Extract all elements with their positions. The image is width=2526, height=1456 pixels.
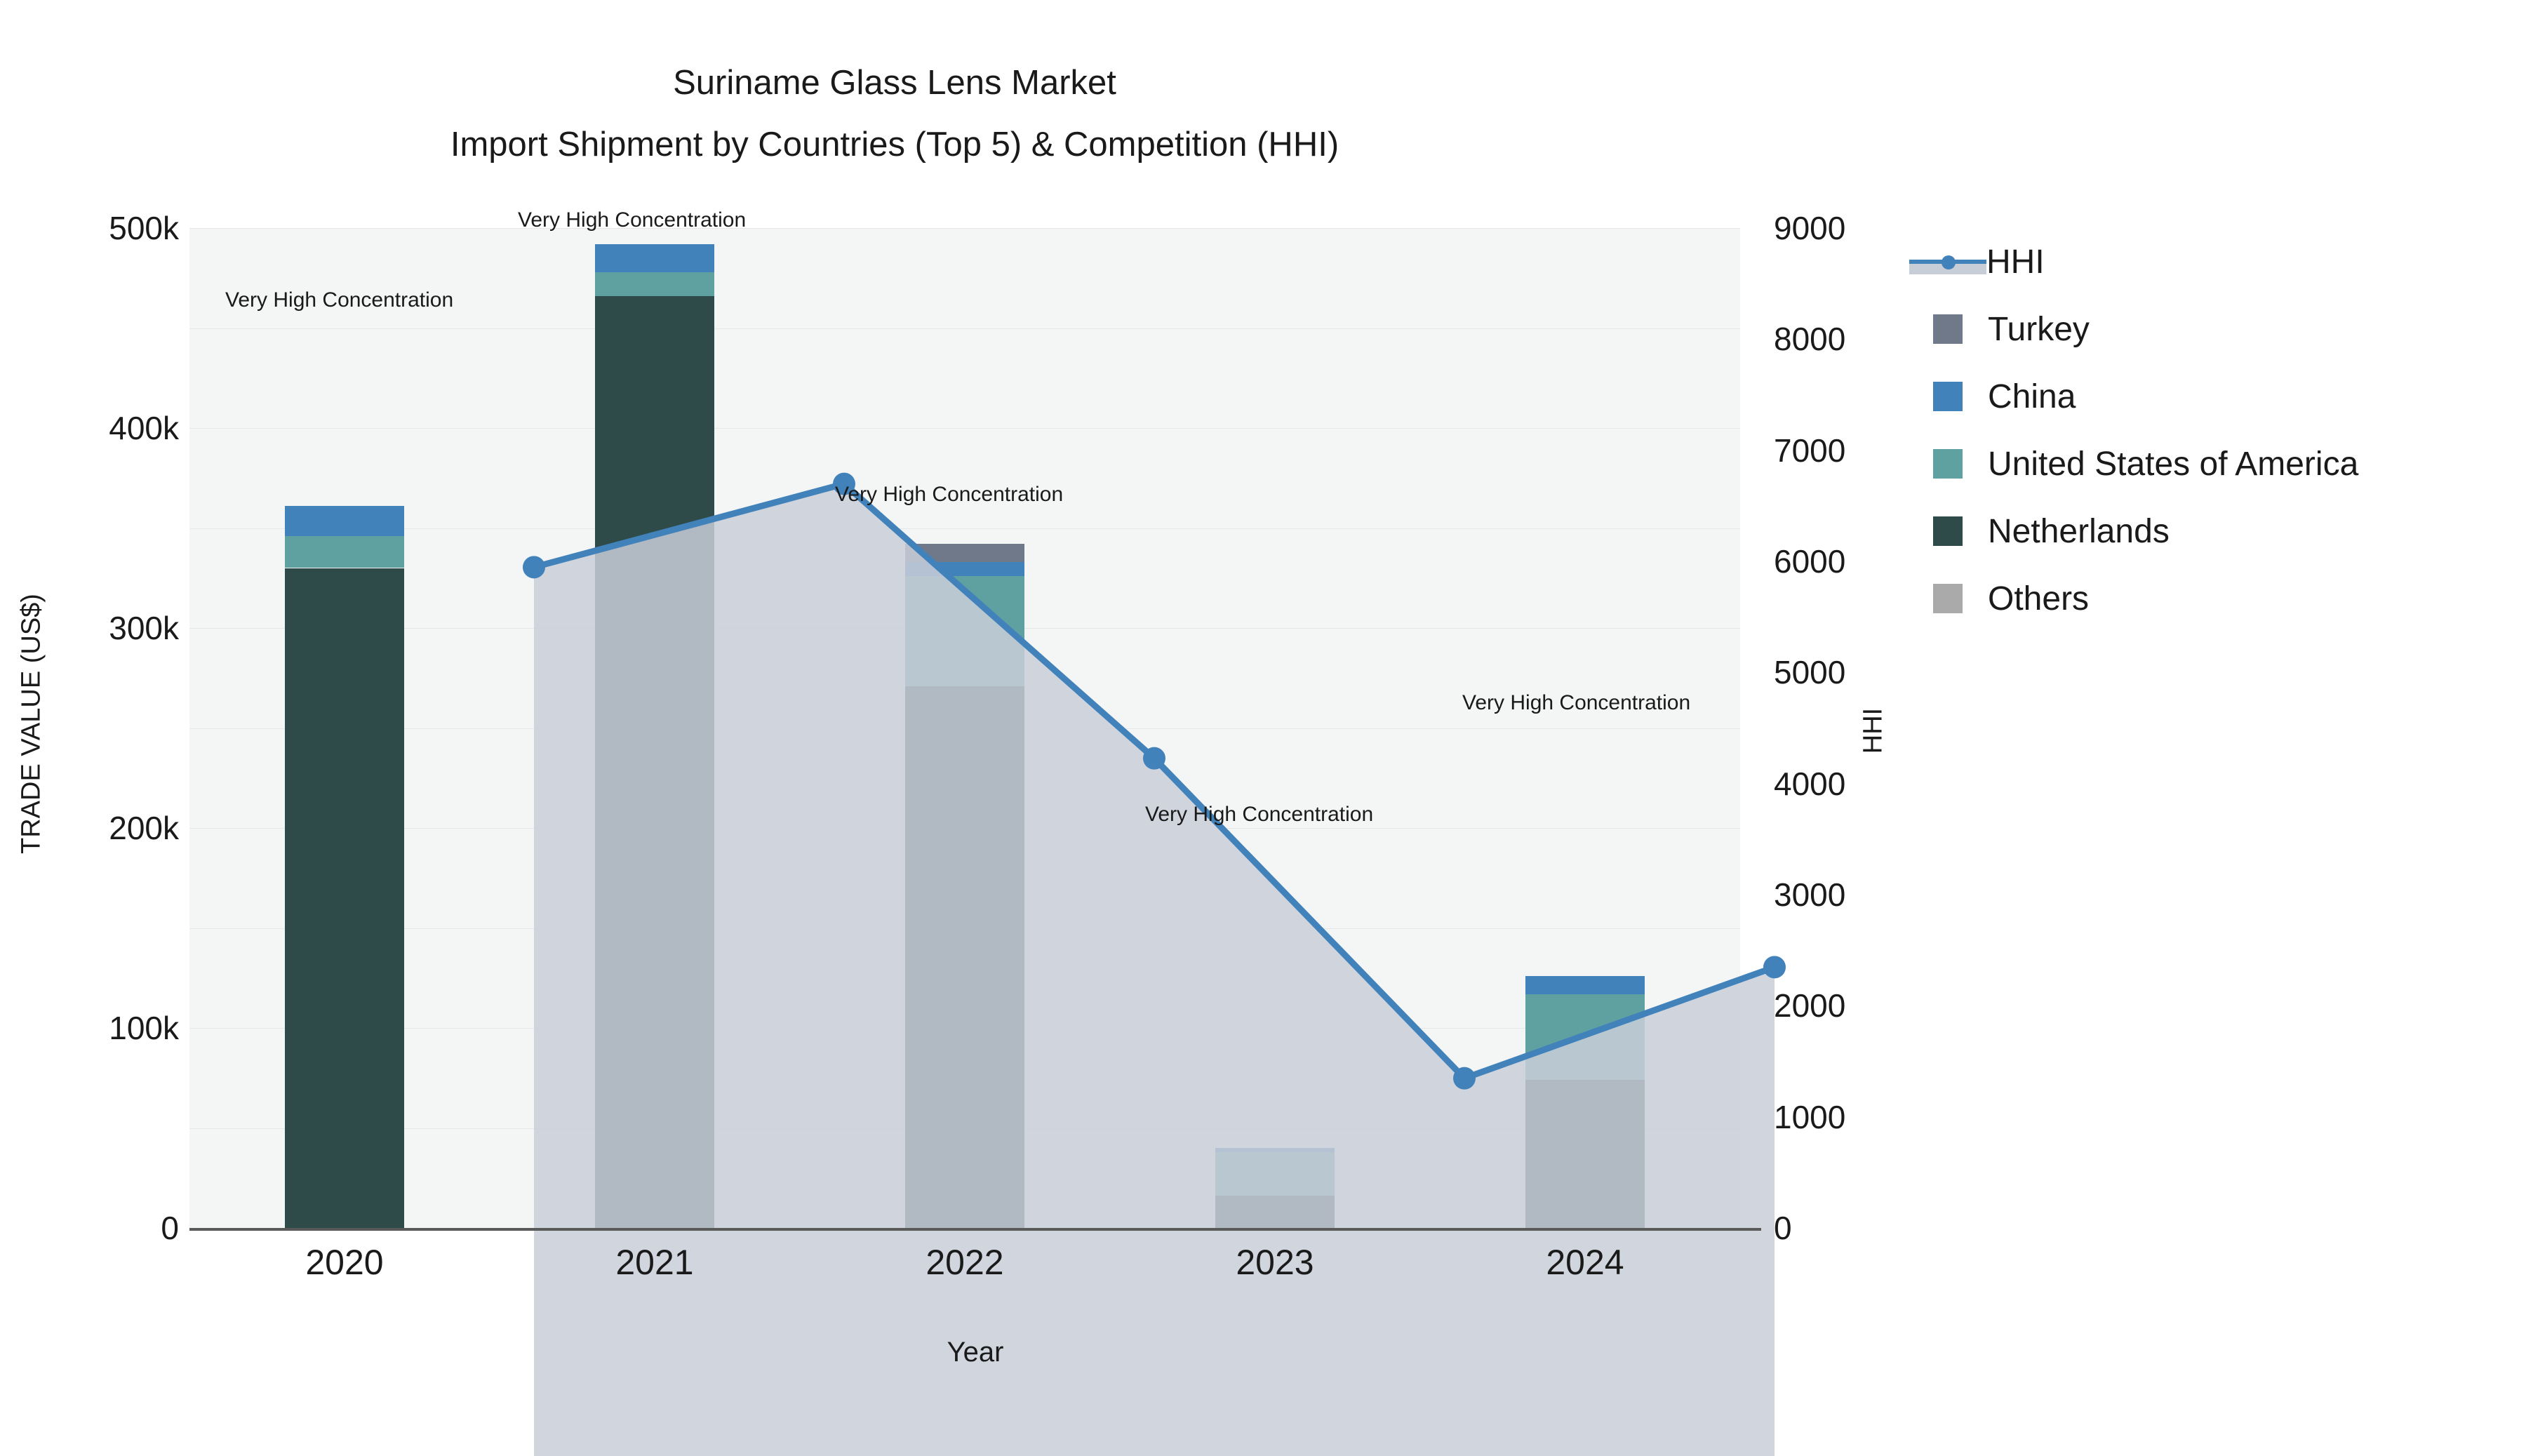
- legend-color-swatch: [1933, 449, 1963, 479]
- legend-item-netherlands[interactable]: Netherlands: [1933, 497, 2515, 565]
- x-axis-line: [189, 1228, 1761, 1231]
- plot-area: [189, 228, 1740, 1228]
- y-tick-left: 100k: [4, 1009, 179, 1047]
- legend-label: Netherlands: [1988, 512, 2170, 551]
- legend-line-swatch: [1909, 247, 1986, 276]
- legend-item-china[interactable]: China: [1933, 363, 2515, 430]
- y-axis-right-title: HHI: [1859, 661, 1889, 801]
- annotation-very-high-concentration: Very High Concentration: [835, 483, 1063, 507]
- annotation-very-high-concentration: Very High Concentration: [1462, 691, 1690, 715]
- x-tick: 2021: [549, 1242, 760, 1283]
- legend-item-hhi[interactable]: HHI: [1933, 228, 2515, 295]
- hhi-line-series: [379, 456, 1930, 1456]
- legend-label: Others: [1988, 580, 2089, 618]
- legend-label: China: [1988, 378, 2076, 416]
- x-tick: 2022: [860, 1242, 1070, 1283]
- bar-segment-china[interactable]: [595, 244, 714, 272]
- x-tick: 2024: [1480, 1242, 1690, 1283]
- hhi-area-fill: [534, 484, 1775, 1456]
- legend-color-swatch: [1933, 584, 1963, 613]
- y-tick-right: 2000: [1774, 987, 1949, 1024]
- legend-label: United States of America: [1988, 445, 2358, 483]
- legend-color-swatch: [1933, 382, 1963, 411]
- bar-segment-united-states-of-america[interactable]: [595, 272, 714, 296]
- x-tick: 2023: [1170, 1242, 1380, 1283]
- hhi-marker: [523, 556, 545, 578]
- y-tick-left: 500k: [4, 209, 179, 247]
- legend-color-swatch: [1933, 314, 1963, 344]
- y-axis-left-title: TRADE VALUE (US$): [17, 528, 47, 921]
- legend: HHITurkeyChinaUnited States of AmericaNe…: [1933, 228, 2515, 632]
- y-tick-right: 6000: [1774, 542, 1949, 580]
- y-tick-right: 9000: [1774, 209, 1949, 247]
- y-tick-right: 7000: [1774, 432, 1949, 469]
- y-tick-left: 400k: [4, 409, 179, 447]
- legend-label: HHI: [1986, 243, 2045, 281]
- y-tick-left: 0: [4, 1209, 179, 1247]
- annotation-very-high-concentration: Very High Concentration: [518, 208, 746, 232]
- x-axis-title: Year: [189, 1337, 1761, 1368]
- legend-item-turkey[interactable]: Turkey: [1933, 295, 2515, 363]
- chart-canvas: Suriname Glass Lens Market Import Shipme…: [0, 0, 2526, 1421]
- hhi-marker: [1453, 1067, 1476, 1090]
- chart-title-line-1: Suriname Glass Lens Market: [0, 63, 1789, 102]
- legend-color-swatch: [1933, 516, 1963, 546]
- annotation-very-high-concentration: Very High Concentration: [1145, 803, 1373, 827]
- hhi-marker: [1143, 747, 1165, 770]
- y-tick-right: 0: [1774, 1209, 1949, 1247]
- y-tick-right: 1000: [1774, 1098, 1949, 1136]
- legend-item-others[interactable]: Others: [1933, 565, 2515, 632]
- y-tick-right: 8000: [1774, 320, 1949, 358]
- x-tick: 2020: [239, 1242, 450, 1283]
- chart-subtitle-line-2: Import Shipment by Countries (Top 5) & C…: [0, 125, 1789, 164]
- legend-label: Turkey: [1988, 310, 2090, 349]
- legend-item-united-states-of-america[interactable]: United States of America: [1933, 430, 2515, 497]
- annotation-very-high-concentration: Very High Concentration: [225, 288, 453, 312]
- y-tick-right: 3000: [1774, 876, 1949, 914]
